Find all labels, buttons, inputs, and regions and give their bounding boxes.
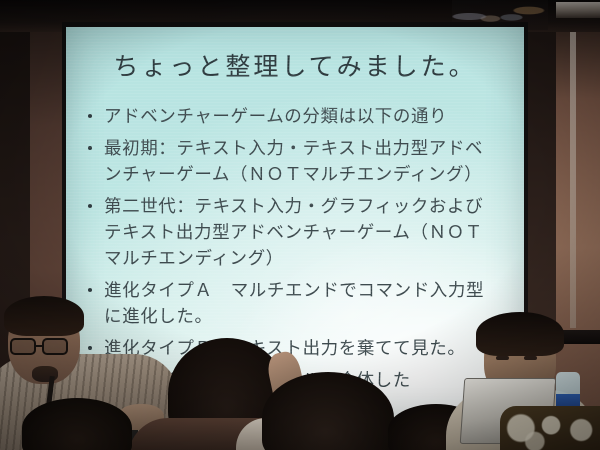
slide-bullet-item: 進化タイプＡ マルチエンドでコマンド入力型 に進化した。 [82, 277, 524, 329]
slide-bullet-item: アドベンチャーゲームの分類は以下の通り [82, 103, 524, 129]
bullet-line: テキスト出力型アドベンチャーゲーム（ＮＯＴ [104, 219, 524, 245]
slide-bullet-item: 進化タイプＢ テキスト出力を棄てて見た。 [82, 335, 524, 361]
slide-title: ちょっと整理してみました。 [66, 47, 524, 83]
bullet-line: に進化した。 [104, 303, 524, 329]
slide-bullet-list: アドベンチャーゲームの分類は以下の通り 最初期：テキスト入力・テキスト出力型アド… [82, 103, 524, 399]
bullet-line: マルチエンディング） [104, 245, 524, 271]
right-wall-shadow [528, 0, 556, 330]
right-wall-edge-highlight [570, 28, 576, 328]
bullet-line: 最初期：テキスト入力・テキスト出力型アドベ [104, 135, 524, 161]
bullet-line: アドベンチャーゲームの分類は以下の通り [104, 103, 524, 129]
bullet-line: 第二世代：テキスト入力・グラフィックおよび [104, 193, 524, 219]
bullet-line: 進化タイプＡ マルチエンドでコマンド入力型 [104, 277, 524, 303]
left-wall-shadow [0, 0, 30, 450]
left-wall [0, 0, 66, 450]
bullet-line: 進化タイプＢ テキスト出力を棄てて見た。 [104, 335, 524, 361]
bullet-line: 進化タイプＣ 他ジャンルと合体した [104, 367, 524, 393]
ceiling-panel [556, 2, 600, 18]
presentation-photo: ちょっと整理してみました。 アドベンチャーゲームの分類は以下の通り 最初期：テキ… [0, 0, 600, 450]
slide-content: ちょっと整理してみました。 アドベンチャーゲームの分類は以下の通り 最初期：テキ… [66, 27, 524, 426]
slide-bullet-item: 進化タイプＣ 他ジャンルと合体した [82, 367, 524, 393]
slide-bullet-item: 最初期：テキスト入力・テキスト出力型アドベ ンチャーゲーム（ＮＯＴマルチエンディ… [82, 135, 524, 187]
bullet-line: ンチャーゲーム（ＮＯＴマルチエンディング） [104, 161, 524, 187]
projection-screen: ちょっと整理してみました。 アドベンチャーゲームの分類は以下の通り 最初期：テキ… [66, 27, 524, 426]
slide-bullet-item: 第二世代：テキスト入力・グラフィックおよび テキスト出力型アドベンチャーゲーム（… [82, 193, 524, 271]
